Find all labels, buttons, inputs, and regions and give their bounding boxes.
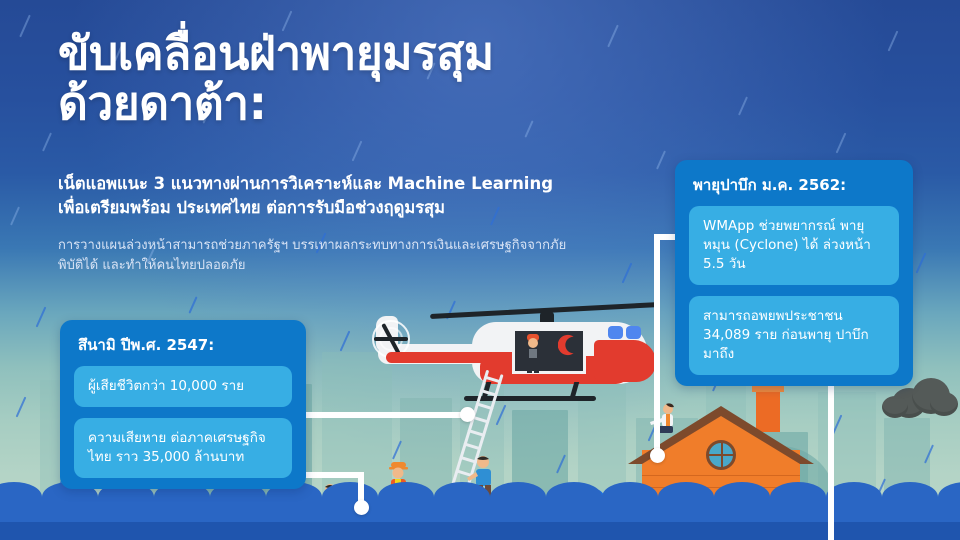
page-body-text: การวางแผนล่วงหน้าสามารถช่วยภาครัฐฯ บรรเท… — [58, 236, 568, 276]
panel-tsunami: สึนามิ ปีพ.ศ. 2547: ผู้เสียชีวิตกว่า 10,… — [60, 320, 306, 489]
page-subtitle-line-1: เน็ตแอพแนะ 3 แนวทางผ่านการวิเคราะห์และ M… — [58, 172, 598, 196]
connector-line-tsunami-1 — [296, 412, 468, 418]
panel-tsunami-title: สึนามิ ปีพ.ศ. 2547: — [60, 320, 306, 366]
red-crescent-icon — [558, 334, 580, 356]
page-subtitle-line-2: เพื่อเตรียมพร้อม ประเทศไทย ต่อการรับมือช… — [58, 196, 598, 220]
house-round-window — [706, 440, 736, 470]
panel-tsunami-card-1: ผู้เสียชีวิตกว่า 10,000 ราย — [74, 366, 292, 407]
connector-dot-tsunami-2 — [354, 500, 369, 515]
page-title: ขับเคลื่อนฝ่าพายุมรสุม ด้วยดาต้า: — [58, 28, 698, 128]
connector-dot-pabuk-1 — [650, 448, 665, 463]
page-title-line-2: ด้วยดาต้า: — [58, 78, 698, 128]
page-subtitle: เน็ตแอพแนะ 3 แนวทางผ่านการวิเคราะห์และ M… — [58, 172, 598, 220]
panel-pabuk-card-2: สามารถอพยพประชาชน 34,089 ราย ก่อนพายุ ปา… — [689, 296, 899, 375]
rescue-helicopter — [372, 292, 672, 442]
rescue-crew-member — [518, 330, 548, 374]
flood-water-deep — [0, 522, 960, 540]
connector-dot-tsunami-1 — [460, 407, 475, 422]
connector-line-tsunami-2 — [296, 472, 364, 478]
panel-pabuk: พายุปาบึก ม.ค. 2562: WMApp ช่วยพยากรณ์ พ… — [675, 160, 913, 386]
panel-pabuk-card-1: WMApp ช่วยพยากรณ์ พายุหมุน (Cyclone) ได้… — [689, 206, 899, 285]
panel-pabuk-title: พายุปาบึก ม.ค. 2562: — [675, 160, 913, 206]
page-title-line-1: ขับเคลื่อนฝ่าพายุมรสุม — [58, 28, 698, 78]
connector-elbow-pabuk-1 — [654, 234, 660, 456]
infographic-canvas: ขับเคลื่อนฝ่าพายุมรสุม ด้วยดาต้า: เน็ตแอ… — [0, 0, 960, 540]
panel-tsunami-card-2: ความเสียหาย ต่อภาคเศรษฐกิจไทย ราว 35,000… — [74, 418, 292, 478]
